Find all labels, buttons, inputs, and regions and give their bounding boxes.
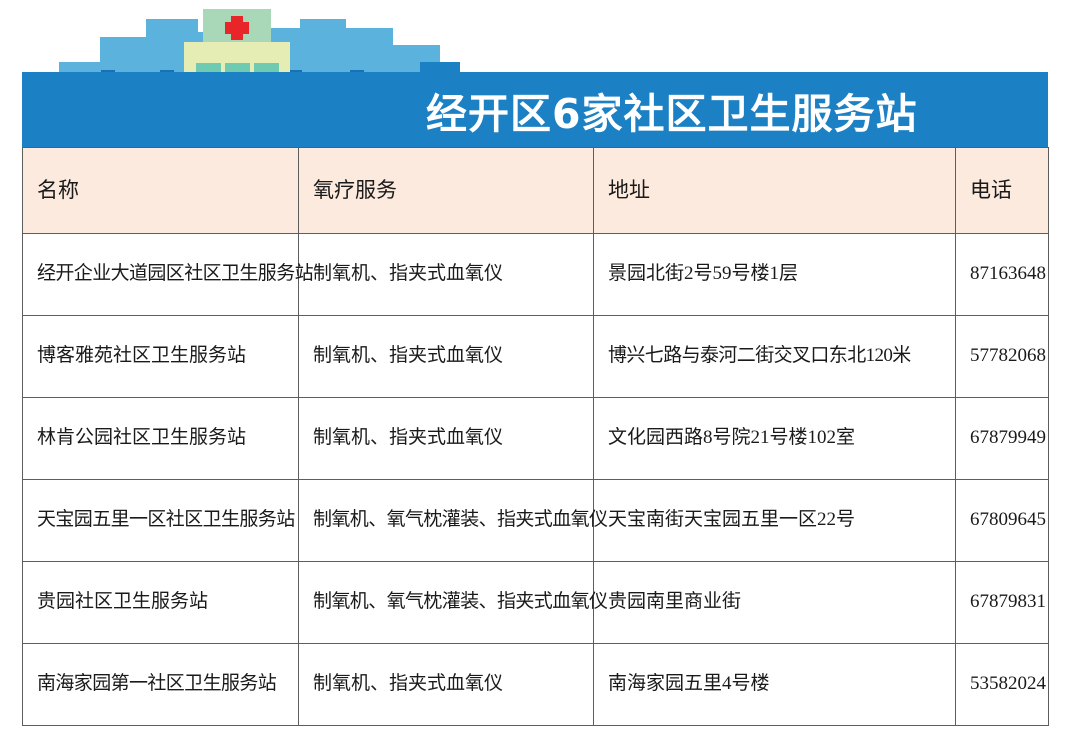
cell-oxygen-service: 制氧机、指夹式血氧仪 [299, 234, 594, 316]
table-row: 天宝园五里一区社区卫生服务站 制氧机、氧气枕灌装、指夹式血氧仪 天宝南街天宝园五… [23, 480, 1049, 562]
health-service-stations-table: 名称 氧疗服务 地址 电话 经开企业大道园区社区卫生服务站 制氧机、指夹式血氧仪… [22, 147, 1049, 726]
table-row: 林肯公园社区卫生服务站 制氧机、指夹式血氧仪 文化园西路8号院21号楼102室 … [23, 398, 1049, 480]
poster-page: 经开区6家社区卫生服务站 名称 氧疗服务 地址 电话 经开企业大道园区社区卫生服… [0, 0, 1080, 742]
cell-oxygen-service: 制氧机、指夹式血氧仪 [299, 316, 594, 398]
column-header-address: 地址 [594, 148, 956, 234]
table-body: 经开企业大道园区社区卫生服务站 制氧机、指夹式血氧仪 景园北街2号59号楼1层 … [23, 234, 1049, 726]
table-row: 贵园社区卫生服务站 制氧机、氧气枕灌装、指夹式血氧仪 贵园南里商业街 67879… [23, 562, 1049, 644]
cell-address: 文化园西路8号院21号楼102室 [594, 398, 956, 480]
cell-oxygen-service: 制氧机、氧气枕灌装、指夹式血氧仪 [299, 562, 594, 644]
table-header-row: 名称 氧疗服务 地址 电话 [23, 148, 1049, 234]
cell-phone: 57782068 [956, 316, 1049, 398]
banner-left-strip [22, 72, 59, 147]
cell-address: 南海家园五里4号楼 [594, 644, 956, 726]
cell-station-name: 林肯公园社区卫生服务站 [23, 398, 299, 480]
column-header-oxygen: 氧疗服务 [299, 148, 594, 234]
cell-address: 博兴七路与泰河二街交叉口东北120米 [594, 316, 956, 398]
table-row: 博客雅苑社区卫生服务站 制氧机、指夹式血氧仪 博兴七路与泰河二街交叉口东北120… [23, 316, 1049, 398]
table-header: 名称 氧疗服务 地址 电话 [23, 148, 1049, 234]
cell-address: 景园北街2号59号楼1层 [594, 234, 956, 316]
column-header-phone: 电话 [956, 148, 1049, 234]
cell-phone: 67809645 [956, 480, 1049, 562]
cell-address: 天宝南街天宝园五里一区22号 [594, 480, 956, 562]
cell-station-name: 贵园社区卫生服务站 [23, 562, 299, 644]
cell-oxygen-service: 制氧机、指夹式血氧仪 [299, 644, 594, 726]
cell-phone: 67879831 [956, 562, 1049, 644]
header-illustration-area: 经开区6家社区卫生服务站 [0, 0, 1080, 147]
cell-station-name: 天宝园五里一区社区卫生服务站 [23, 480, 299, 562]
cell-station-name: 博客雅苑社区卫生服务站 [23, 316, 299, 398]
cell-oxygen-service: 制氧机、氧气枕灌装、指夹式血氧仪 [299, 480, 594, 562]
table-row: 南海家园第一社区卫生服务站 制氧机、指夹式血氧仪 南海家园五里4号楼 53582… [23, 644, 1049, 726]
cell-phone: 67879949 [956, 398, 1049, 480]
cell-oxygen-service: 制氧机、指夹式血氧仪 [299, 398, 594, 480]
column-header-name: 名称 [23, 148, 299, 234]
table-row: 经开企业大道园区社区卫生服务站 制氧机、指夹式血氧仪 景园北街2号59号楼1层 … [23, 234, 1049, 316]
cell-station-name: 经开企业大道园区社区卫生服务站 [23, 234, 299, 316]
cell-address: 贵园南里商业街 [594, 562, 956, 644]
cell-phone: 87163648 [956, 234, 1049, 316]
cell-phone: 53582024 [956, 644, 1049, 726]
cell-station-name: 南海家园第一社区卫生服务站 [23, 644, 299, 726]
page-title: 经开区6家社区卫生服务站 [426, 72, 1026, 147]
